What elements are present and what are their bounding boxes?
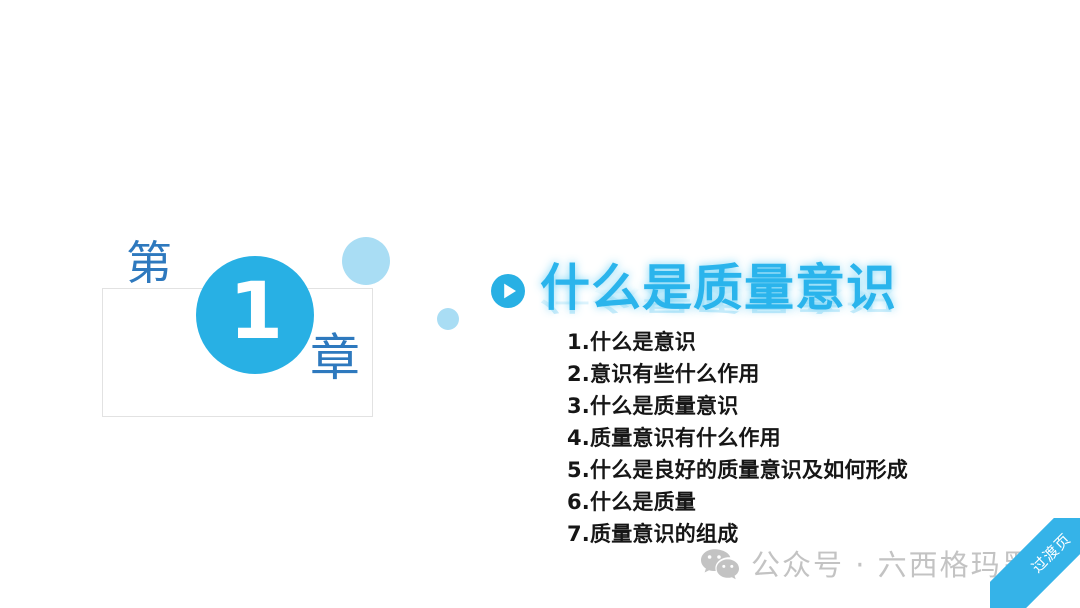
slide-title: 什么是质量意识	[540, 262, 897, 315]
watermark-label: 公众号 · 六西格玛黑带	[751, 551, 1064, 580]
play-circle-icon	[491, 274, 525, 308]
list-item: 6.什么是质量	[567, 486, 908, 518]
footer-watermark: 公众号 · 六西格玛黑带	[700, 548, 1064, 582]
list-item: 2.意识有些什么作用	[567, 358, 908, 390]
decorative-circle-large	[342, 237, 390, 285]
chapter-suffix-label: 章	[310, 333, 360, 383]
chapter-number-badge: 1	[196, 256, 314, 374]
list-item: 4.质量意识有什么作用	[567, 422, 908, 454]
chapter-prefix-label: 第	[126, 240, 172, 286]
list-item: 5.什么是良好的质量意识及如何形成	[567, 454, 908, 486]
list-item: 1.什么是意识	[567, 326, 908, 358]
wechat-icon	[700, 548, 740, 582]
agenda-list: 1.什么是意识 2.意识有些什么作用 3.什么是质量意识 4.质量意识有什么作用…	[567, 326, 908, 550]
slide-title-wrapper: 什么是质量意识 什么是质量意识	[540, 262, 897, 320]
slide-canvas: 第 1 章 什么是质量意识 什么是质量意识 1.什么是意识 2.意识有些什么作用…	[0, 0, 1080, 608]
chapter-number-label: 1	[229, 273, 283, 351]
list-item: 7.质量意识的组成	[567, 518, 908, 550]
list-item: 3.什么是质量意识	[567, 390, 908, 422]
decorative-circle-small	[437, 308, 459, 330]
